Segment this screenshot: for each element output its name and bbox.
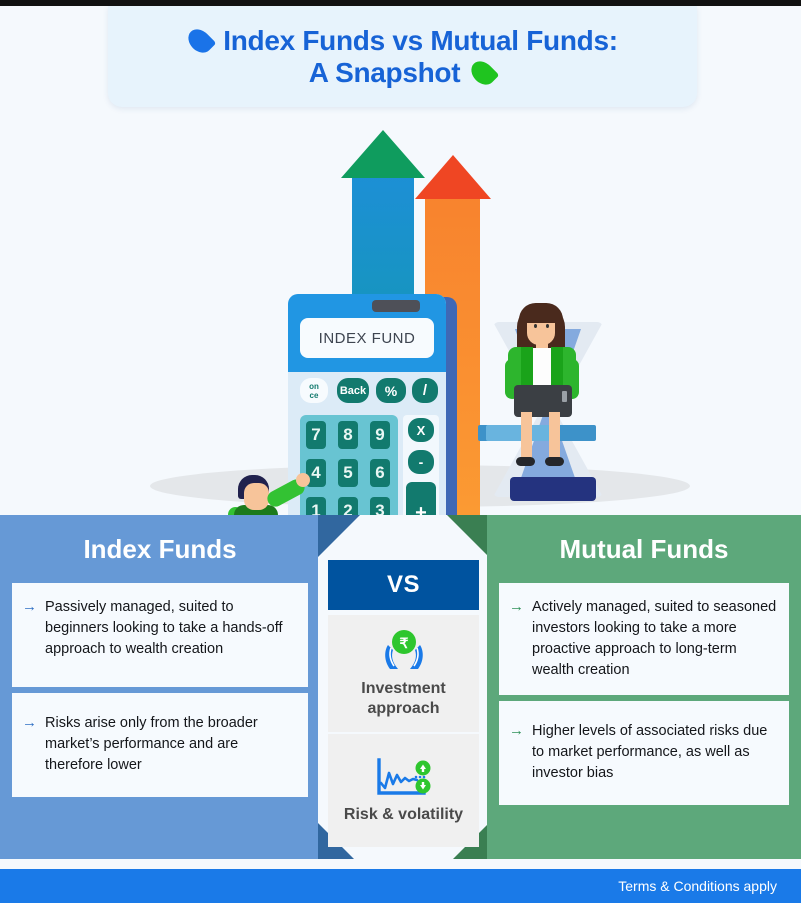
comparison-section: Index Funds → Passively managed, suited … — [0, 515, 801, 867]
calculator-key-percent[interactable]: % — [376, 378, 406, 403]
arrow-right-icon: → — [22, 597, 37, 616]
page-title-line1: Index Funds vs Mutual Funds: — [223, 25, 618, 57]
criteria-row-risk-volatility: Risk & volatility — [328, 734, 479, 847]
index-funds-point-1: → Passively managed, suited to beginners… — [12, 583, 308, 687]
column-title-index-funds: Index Funds — [83, 534, 236, 565]
index-funds-point-2: → Risks arise only from the broader mark… — [12, 693, 308, 797]
calculator-top-panel: INDEX FUND — [288, 294, 446, 372]
man-hand — [296, 473, 310, 487]
woman-leg-right — [549, 412, 560, 460]
woman-shoe-left — [516, 457, 535, 466]
criteria-row-investment-approach: ₹ Investment approach — [328, 615, 479, 732]
column-vs-center: VS ₹ Investment approach — [318, 515, 489, 867]
calculator-key-back[interactable]: Back — [337, 378, 369, 403]
vs-badge: VS — [328, 560, 479, 610]
notch-top-left — [318, 515, 360, 557]
calculator-key-plus[interactable]: + — [406, 482, 436, 515]
arrow-right-icon: → — [509, 721, 524, 740]
hourglass-base — [510, 477, 596, 501]
arrow-right-icon: → — [509, 597, 524, 616]
column-mutual-funds: Mutual Funds → Actively managed, suited … — [487, 515, 801, 859]
calculator: INDEX FUND on ce Back % / 7 8 9 4 5 6 1 … — [288, 294, 446, 515]
terms-and-conditions-text: Terms & Conditions apply — [618, 878, 777, 894]
calculator-key-on-label: on — [309, 382, 319, 391]
calculator-display: INDEX FUND — [300, 318, 434, 358]
calculator-key-9[interactable]: 9 — [370, 421, 390, 449]
teardrop-green-icon — [470, 63, 496, 83]
mutual-funds-point-2-text: Higher levels of associated risks due to… — [532, 721, 777, 784]
calculator-key-3[interactable]: 3 — [370, 497, 390, 515]
teardrop-blue-icon — [187, 31, 213, 51]
calculator-speaker — [372, 300, 420, 312]
index-funds-point-1-text: Passively managed, suited to beginners l… — [45, 597, 296, 660]
arrow-right-icon: → — [22, 713, 37, 732]
page-title-line2: A Snapshot — [309, 57, 461, 89]
title-line-1: Index Funds vs Mutual Funds: — [187, 25, 618, 57]
calculator-key-once[interactable]: on ce — [300, 378, 328, 403]
calculator-key-minus[interactable]: - — [408, 450, 434, 474]
column-title-mutual-funds: Mutual Funds — [560, 534, 729, 565]
index-funds-point-2-text: Risks arise only from the broader market… — [45, 713, 296, 776]
woman-hair-top — [519, 303, 563, 323]
svg-text:₹: ₹ — [399, 635, 408, 651]
vs-label: VS — [387, 571, 420, 599]
title-card: Index Funds vs Mutual Funds: A Snapshot — [108, 6, 697, 107]
notch-top-right — [447, 515, 489, 557]
calculator-key-divide[interactable]: / — [412, 378, 438, 403]
calculator-key-multiply[interactable]: X — [408, 418, 434, 442]
calculator-key-1[interactable]: 1 — [306, 497, 326, 515]
mutual-funds-point-2: → Higher levels of associated risks due … — [499, 701, 789, 805]
woman-eye-left — [534, 324, 537, 328]
calculator-function-row: on ce Back % / — [288, 376, 446, 408]
calculator-key-2[interactable]: 2 — [338, 497, 358, 515]
woman-eye-right — [546, 324, 549, 328]
criteria-label-risk-volatility: Risk & volatility — [344, 805, 463, 825]
column-header-index-funds: Index Funds — [0, 515, 320, 583]
calculator-key-7[interactable]: 7 — [306, 421, 326, 449]
criteria-label-investment-approach: Investment approach — [328, 679, 479, 719]
mutual-funds-point-1: → Actively managed, suited to seasoned i… — [499, 583, 789, 695]
volatility-line-chart-icon — [374, 757, 434, 799]
calculator-key-5[interactable]: 5 — [338, 459, 358, 487]
column-header-mutual-funds: Mutual Funds — [487, 515, 801, 583]
title-line-2: A Snapshot — [309, 57, 497, 89]
footer-bar: Terms & Conditions apply — [0, 869, 801, 903]
hero-illustration: INDEX FUND on ce Back % / 7 8 9 4 5 6 1 … — [0, 107, 801, 515]
calculator-number-pad: 7 8 9 4 5 6 1 2 3 0 . = — [300, 415, 398, 515]
woman-leg-left — [521, 412, 532, 460]
top-edge-strip — [0, 0, 801, 6]
calculator-display-text: INDEX FUND — [319, 330, 416, 347]
calculator-key-8[interactable]: 8 — [338, 421, 358, 449]
mutual-funds-point-1-text: Actively managed, suited to seasoned inv… — [532, 597, 777, 681]
hands-holding-rupee-coin-icon: ₹ — [378, 629, 430, 673]
man-head — [244, 483, 269, 510]
column-index-funds: Index Funds → Passively managed, suited … — [0, 515, 320, 859]
woman-shoe-right — [545, 457, 564, 466]
calculator-key-6[interactable]: 6 — [370, 459, 390, 487]
calculator-key-ce-label: ce — [310, 391, 319, 400]
